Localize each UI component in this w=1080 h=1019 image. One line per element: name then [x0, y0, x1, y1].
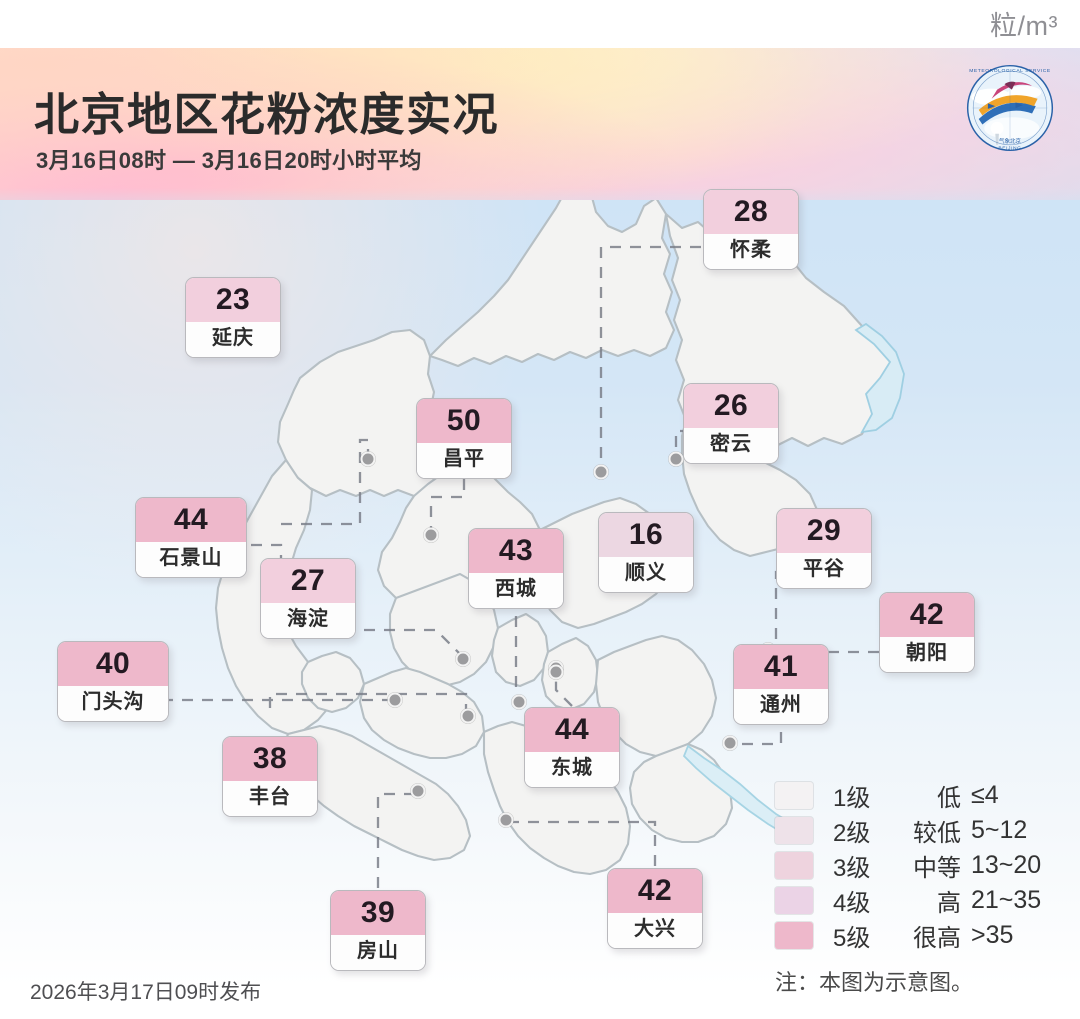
station-card-密云[interactable]: 26密云: [683, 383, 779, 464]
station-name: 东城: [525, 752, 619, 787]
station-card-朝阳[interactable]: 42朝阳: [879, 592, 975, 673]
station-card-门头沟[interactable]: 40门头沟: [57, 641, 169, 722]
unit-label: 粒/m³: [990, 4, 1058, 43]
legend-row: 2级较低5~12: [775, 813, 1041, 848]
page-subtitle: 3月16日08时 — 3月16日20时小时平均: [36, 143, 422, 175]
station-card-怀柔[interactable]: 28怀柔: [703, 189, 799, 270]
svg-text:METEOROLOGICAL SERVICE: METEOROLOGICAL SERVICE: [969, 68, 1051, 74]
legend-description: 中等: [895, 848, 971, 883]
legend-swatch: [775, 887, 813, 914]
legend-range: 13~20: [971, 851, 1041, 880]
station-value: 26: [684, 384, 778, 428]
legend-range: 21~35: [971, 886, 1041, 915]
legend-level: 2级: [833, 813, 895, 848]
station-card-丰台[interactable]: 38丰台: [222, 736, 318, 817]
legend-description: 高: [895, 883, 971, 918]
legend-swatch: [775, 922, 813, 949]
station-card-通州[interactable]: 41通州: [733, 644, 829, 725]
unit-strip: 粒/m³: [0, 0, 1080, 48]
legend-level: 4级: [833, 883, 895, 918]
legend-range: >35: [971, 921, 1013, 950]
station-name: 延庆: [186, 322, 280, 357]
svg-text:气象北京: 气象北京: [999, 137, 1022, 145]
legend-description: 较低: [895, 813, 971, 848]
station-name: 怀柔: [704, 234, 798, 269]
station-value: 29: [777, 509, 871, 553]
station-value: 16: [599, 513, 693, 557]
station-name: 平谷: [777, 553, 871, 588]
station-card-海淀[interactable]: 27海淀: [260, 558, 356, 639]
legend-description: 低: [895, 778, 971, 813]
station-dot-通州[interactable]: [723, 736, 738, 751]
district-huairou: [430, 200, 674, 366]
station-name: 朝阳: [880, 637, 974, 672]
legend-range: 5~12: [971, 816, 1027, 845]
station-dot-门头沟[interactable]: [388, 693, 403, 708]
station-value: 42: [880, 593, 974, 637]
station-name: 丰台: [223, 781, 317, 816]
legend-row: 1级低≤4: [775, 778, 1041, 813]
legend-swatch: [775, 817, 813, 844]
station-dot-怀柔[interactable]: [594, 465, 609, 480]
station-dot-密云[interactable]: [669, 452, 684, 467]
publish-timestamp: 2026年3月17日09时发布: [30, 976, 261, 1006]
station-name: 门头沟: [58, 686, 168, 721]
station-dot-昌平[interactable]: [424, 528, 439, 543]
legend-swatch: [775, 782, 813, 809]
station-value: 44: [525, 708, 619, 752]
station-value: 41: [734, 645, 828, 689]
station-card-石景山[interactable]: 44石景山: [135, 497, 247, 578]
station-name: 石景山: [136, 542, 246, 577]
station-name: 房山: [331, 935, 425, 970]
station-dot-海淀[interactable]: [456, 652, 471, 667]
station-card-大兴[interactable]: 42大兴: [607, 868, 703, 949]
station-card-房山[interactable]: 39房山: [330, 890, 426, 971]
legend-row: 3级中等13~20: [775, 848, 1041, 883]
legend-level: 3级: [833, 848, 895, 883]
station-name: 顺义: [599, 557, 693, 592]
station-dot-延庆[interactable]: [361, 452, 376, 467]
legend: 1级低≤42级较低5~123级中等13~204级高21~355级很高>35: [775, 778, 1041, 953]
station-value: 50: [417, 399, 511, 443]
station-value: 40: [58, 642, 168, 686]
station-value: 38: [223, 737, 317, 781]
station-card-平谷[interactable]: 29平谷: [776, 508, 872, 589]
station-card-顺义[interactable]: 16顺义: [598, 512, 694, 593]
legend-row: 5级很高>35: [775, 918, 1041, 953]
station-name: 大兴: [608, 913, 702, 948]
station-name: 通州: [734, 689, 828, 724]
legend-description: 很高: [895, 918, 971, 953]
station-dot-东城[interactable]: [549, 665, 564, 680]
station-value: 39: [331, 891, 425, 935]
legend-range: ≤4: [971, 781, 999, 810]
svg-text:BEIJING: BEIJING: [998, 145, 1021, 151]
legend-level: 5级: [833, 918, 895, 953]
station-dot-大兴[interactable]: [499, 813, 514, 828]
station-value: 27: [261, 559, 355, 603]
station-card-西城[interactable]: 43西城: [468, 528, 564, 609]
station-name: 西城: [469, 573, 563, 608]
station-card-东城[interactable]: 44东城: [524, 707, 620, 788]
station-value: 42: [608, 869, 702, 913]
beijing-meteorological-service-logo-icon: METEOROLOGICAL SERVICE BEIJING 气象北京: [964, 62, 1056, 154]
station-name: 昌平: [417, 443, 511, 478]
pollen-map-infographic: 粒/m³ 北京地区花粉浓度实况 3月16日08时 — 3月16日20时小时平均 …: [0, 0, 1080, 1019]
legend-row: 4级高21~35: [775, 883, 1041, 918]
legend-level: 1级: [833, 778, 895, 813]
station-name: 密云: [684, 428, 778, 463]
station-value: 28: [704, 190, 798, 234]
station-dot-房山[interactable]: [411, 784, 426, 799]
station-value: 23: [186, 278, 280, 322]
station-value: 43: [469, 529, 563, 573]
station-value: 44: [136, 498, 246, 542]
station-dot-丰台[interactable]: [461, 709, 476, 724]
map-note: 注：本图为示意图。: [775, 965, 973, 997]
legend-swatch: [775, 852, 813, 879]
station-dot-西城[interactable]: [512, 695, 527, 710]
station-card-延庆[interactable]: 23延庆: [185, 277, 281, 358]
station-card-昌平[interactable]: 50昌平: [416, 398, 512, 479]
page-title: 北京地区花粉浓度实况: [34, 78, 499, 143]
station-name: 海淀: [261, 603, 355, 638]
